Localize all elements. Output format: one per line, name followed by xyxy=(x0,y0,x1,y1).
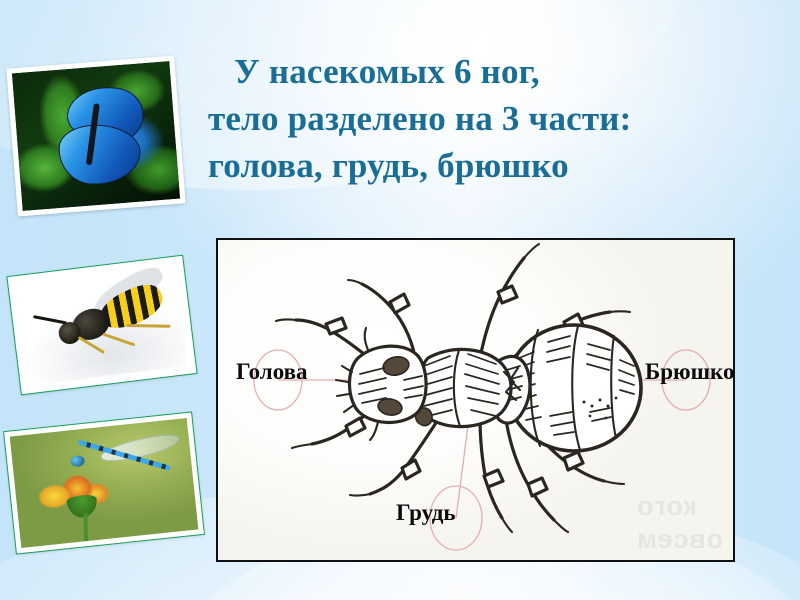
photo-butterfly xyxy=(6,56,185,217)
ant-thorax xyxy=(416,349,511,426)
photo-damselfly xyxy=(4,413,204,554)
label-bryushko: Брюшко xyxy=(645,359,734,385)
title-line-3: голова, грудь, брюшко xyxy=(208,142,800,189)
insect-diagram-panel: кого овсем .ink { fill:none; stroke:#2b2… xyxy=(216,238,735,562)
title-line-1: У насекомых 6 ног, xyxy=(208,48,800,95)
damselfly-head xyxy=(70,455,85,467)
wasp-leg xyxy=(102,333,135,347)
photo-damselfly-image xyxy=(10,418,199,548)
wasp-leg xyxy=(126,324,170,328)
photo-wasp xyxy=(7,256,196,395)
label-grud: Грудь xyxy=(396,500,456,526)
photo-wasp-image xyxy=(16,265,187,386)
label-golova: Голова xyxy=(236,359,308,385)
slide-title: У насекомых 6 ног, тело разделено на 3 ч… xyxy=(208,48,800,189)
ant-line-drawing: .ink { fill:none; stroke:#2b2620; stroke… xyxy=(218,240,735,562)
slide-canvas: У насекомых 6 ног, тело разделено на 3 ч… xyxy=(0,0,800,600)
title-line-2: тело разделено на 3 части: xyxy=(208,95,800,142)
butterfly-wing-lower xyxy=(58,124,142,186)
flower-stem xyxy=(84,513,89,547)
photo-butterfly-image xyxy=(12,61,180,211)
wasp-antenna xyxy=(33,315,67,324)
